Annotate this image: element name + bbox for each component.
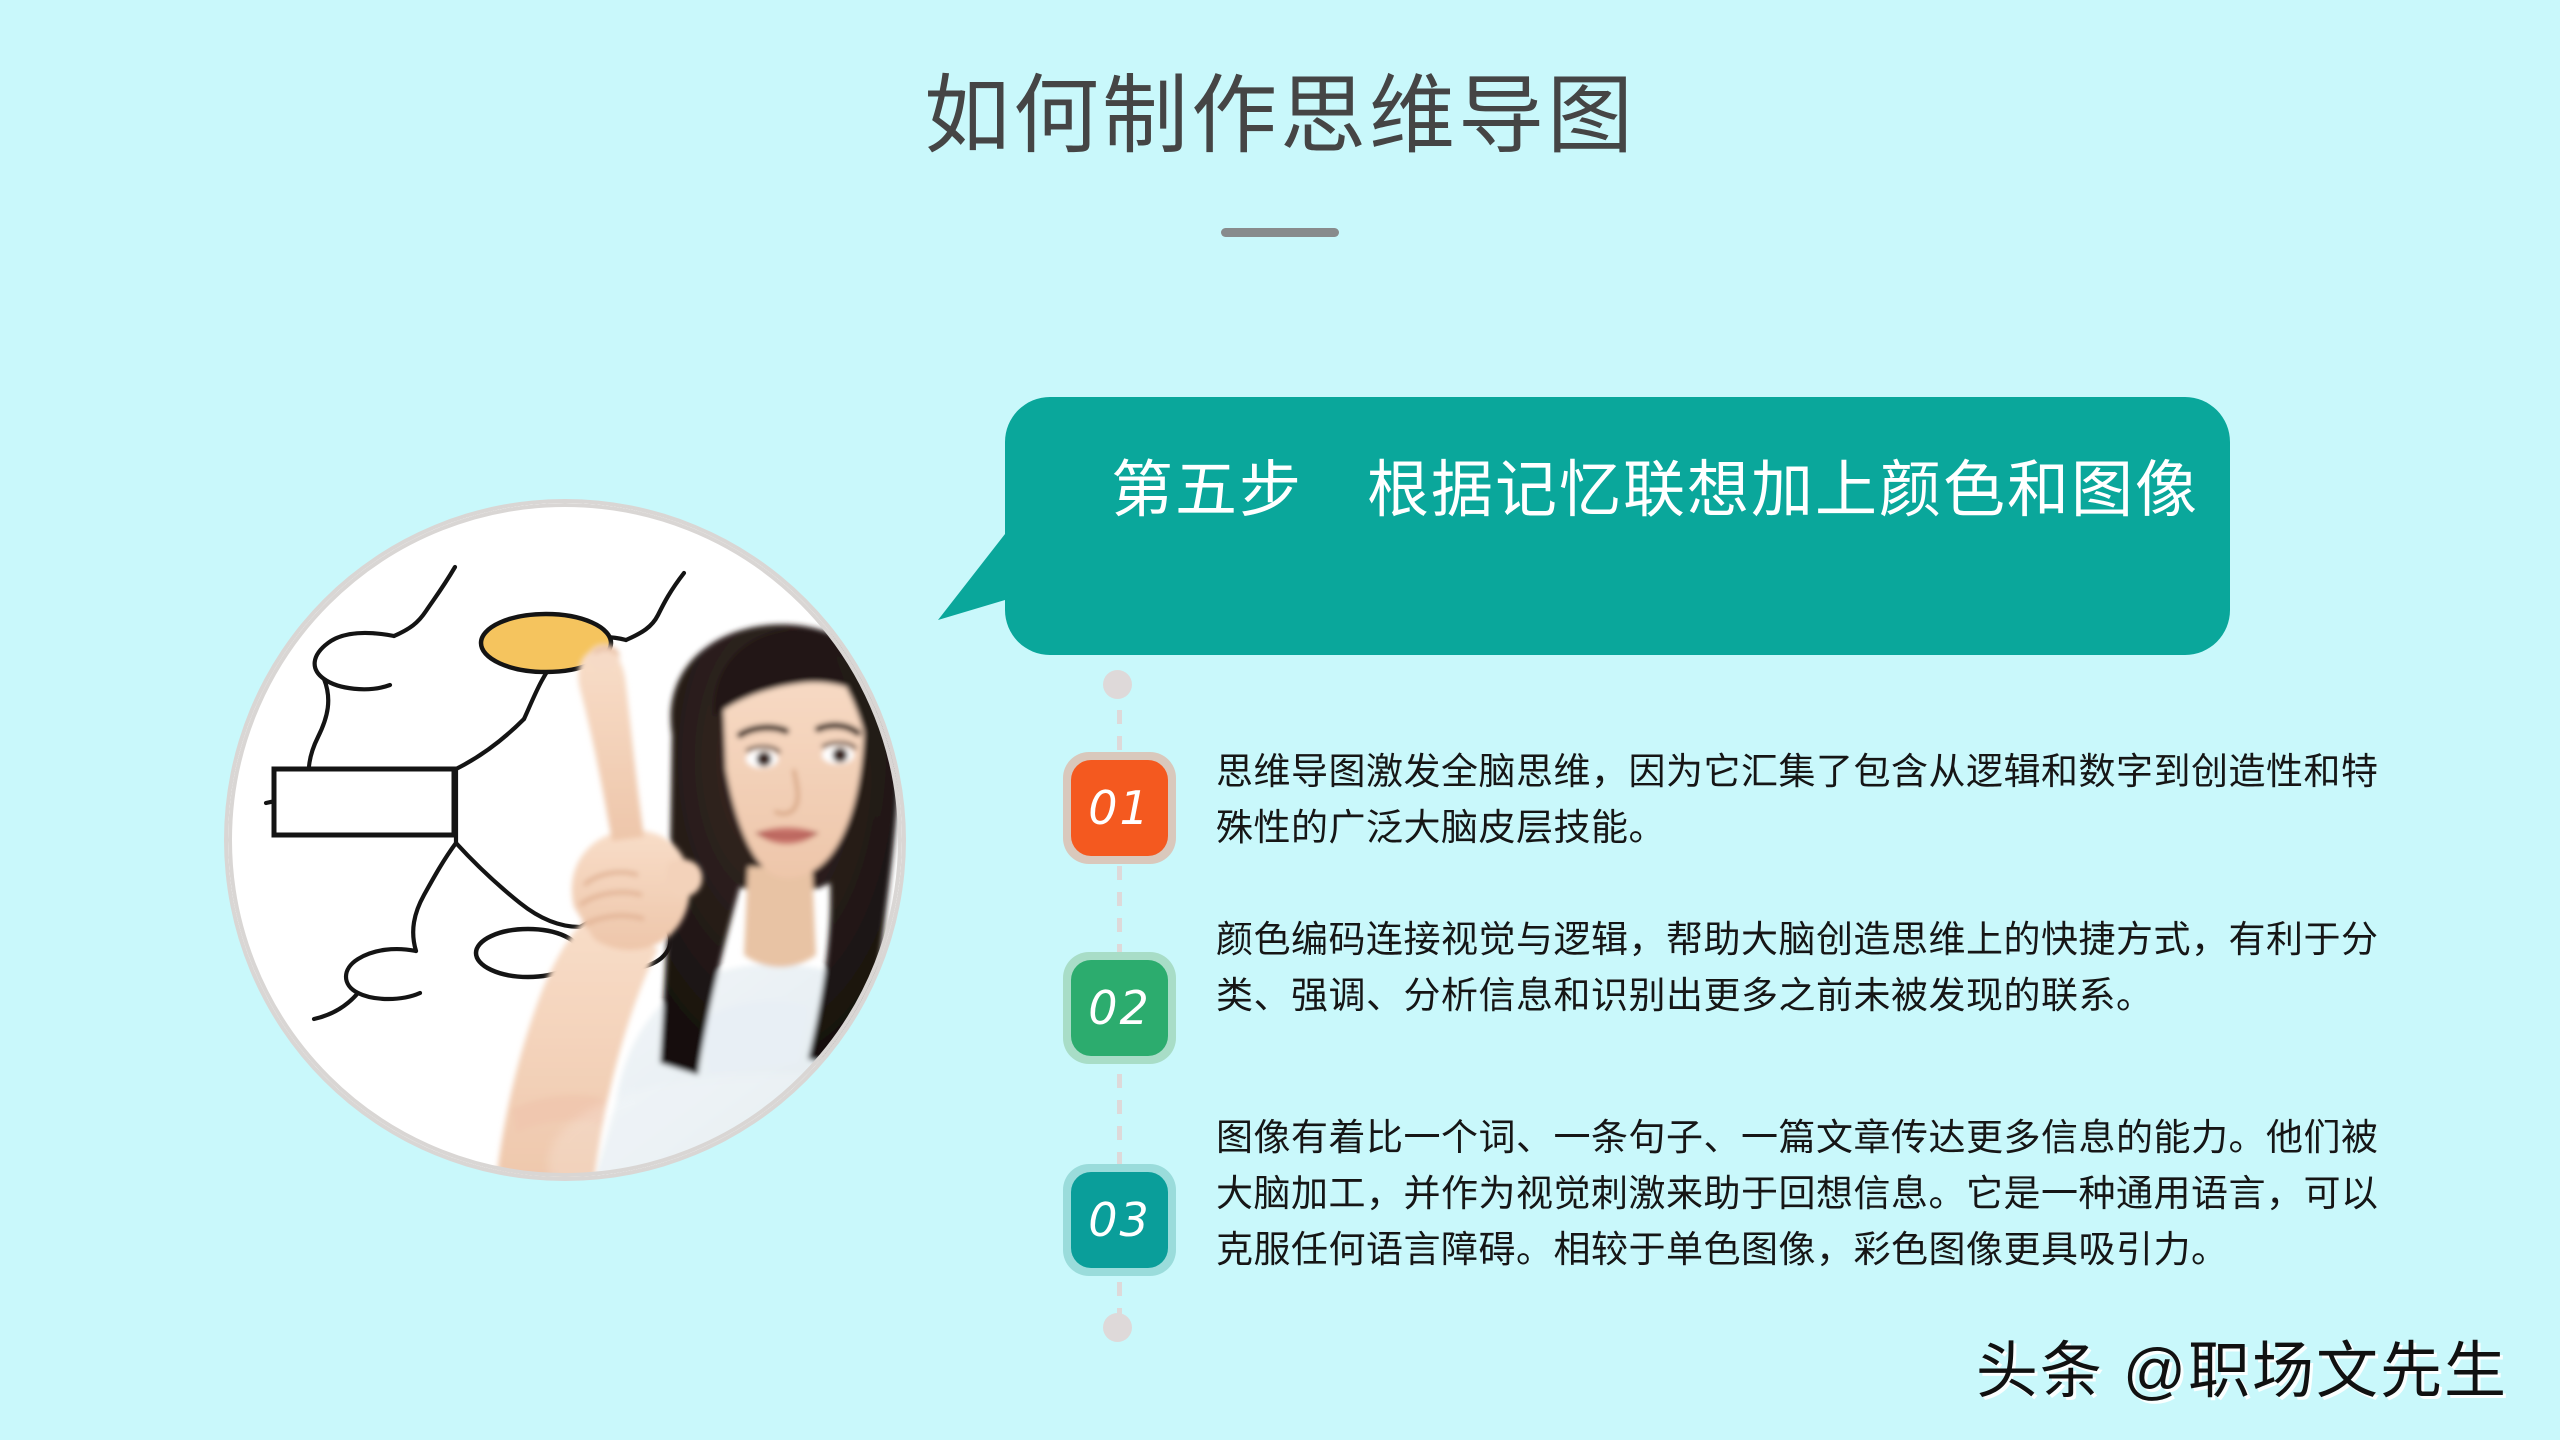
list-item: 01 思维导图激发全脑思维，因为它汇集了包含从逻辑和数字到创造性和特殊性的广泛大… <box>1063 740 2463 864</box>
list-item-text-02: 颜色编码连接视觉与逻辑，帮助大脑创造思维上的快捷方式，有利于分类、强调、分析信息… <box>1216 908 2396 1024</box>
list-item-text-03: 图像有着比一个词、一条句子、一篇文章传达更多信息的能力。他们被大脑加工，并作为视… <box>1216 1106 2396 1279</box>
list-item-text-01: 思维导图激发全脑思维，因为它汇集了包含从逻辑和数字到创造性和特殊性的广泛大脑皮层… <box>1216 740 2396 856</box>
watermark: 头条 @职场文先生 <box>1976 1320 2508 1410</box>
step-badge-01[interactable]: 01 <box>1063 752 1176 864</box>
step-badge-03[interactable]: 03 <box>1063 1164 1176 1276</box>
step-badge-03-number: 03 <box>1071 1172 1168 1268</box>
slide-root: 如何制作思维导图 <box>0 0 2560 1440</box>
title-divider <box>1221 228 1339 237</box>
step-badge-01-number: 01 <box>1071 760 1168 856</box>
timeline-dot-bottom <box>1103 1313 1132 1342</box>
step-badge-02-number: 02 <box>1071 960 1168 1056</box>
list-item: 02 颜色编码连接视觉与逻辑，帮助大脑创造思维上的快捷方式，有利于分类、强调、分… <box>1063 908 2463 1064</box>
benefit-list: 01 思维导图激发全脑思维，因为它汇集了包含从逻辑和数字到创造性和特殊性的广泛大… <box>1063 740 2463 1317</box>
page-title: 如何制作思维导图 <box>0 68 2560 164</box>
list-item: 03 图像有着比一个词、一条句子、一篇文章传达更多信息的能力。他们被大脑加工，并… <box>1063 1106 2463 1279</box>
woman-pointing-at-mindmap-photo <box>228 503 902 1177</box>
step-banner-text: 第五步 根据记忆联想加上颜色和图像 <box>1100 452 2210 530</box>
step-badge-02[interactable]: 02 <box>1063 952 1176 1064</box>
